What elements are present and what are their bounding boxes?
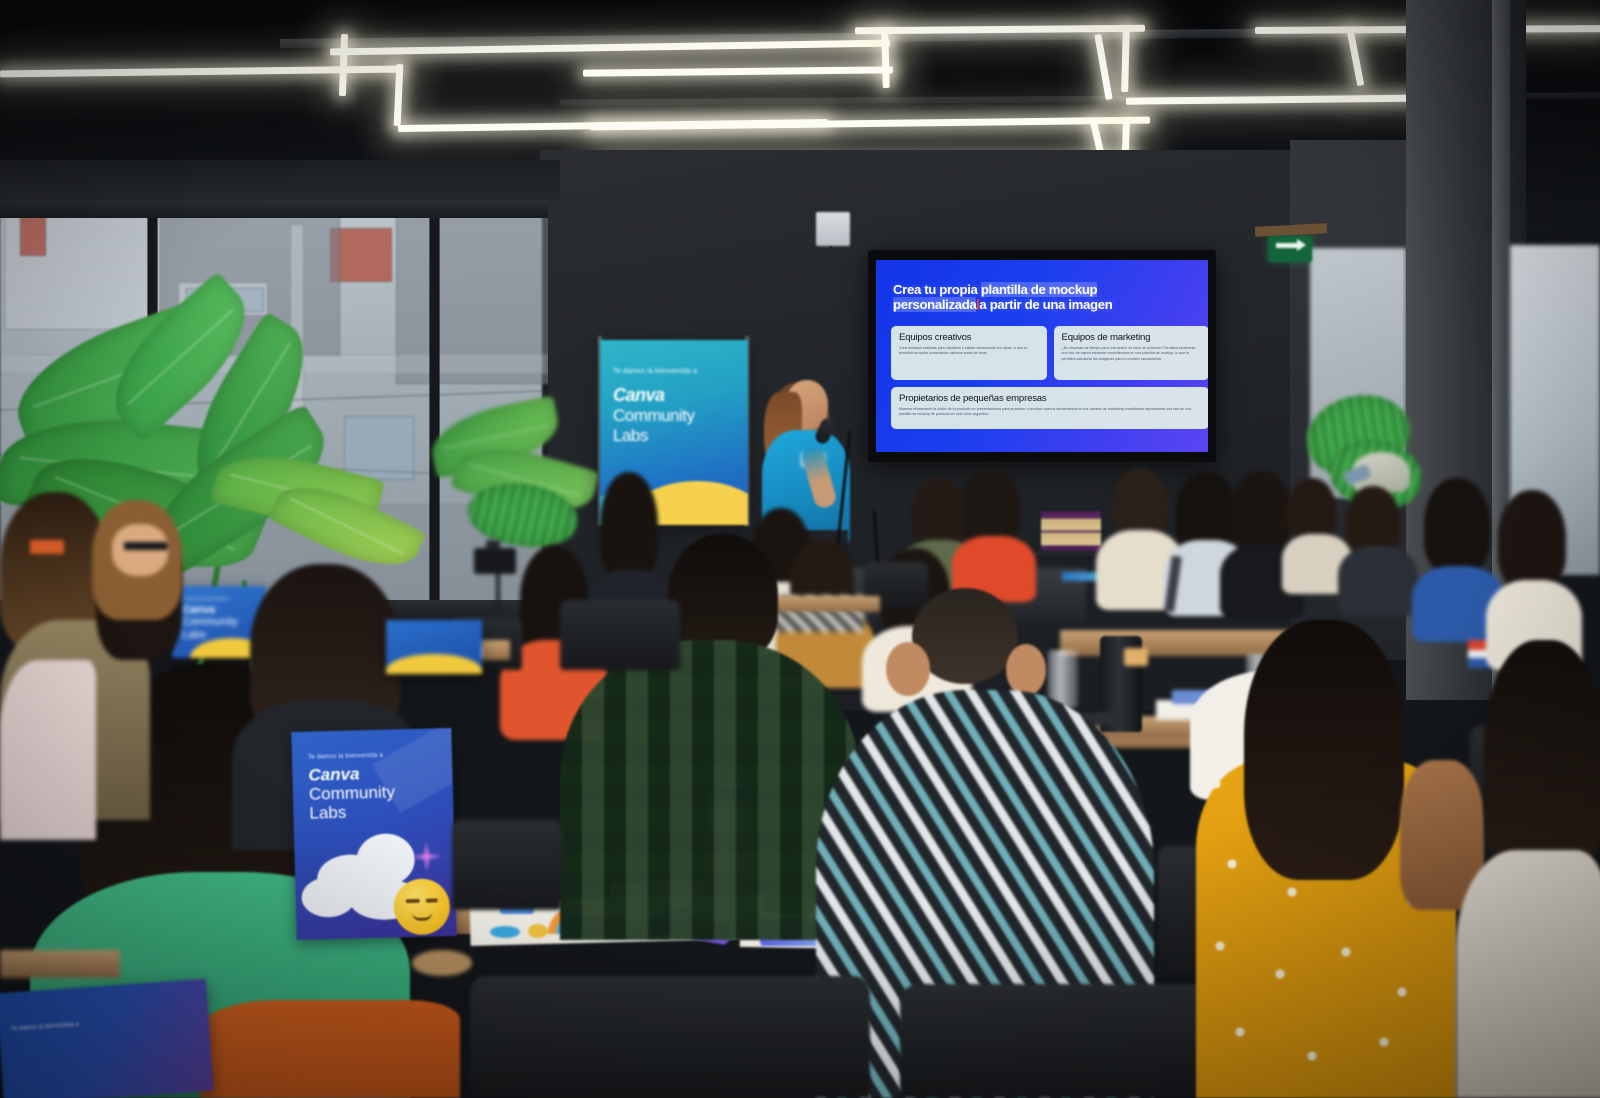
eyeglasses: [124, 542, 168, 550]
exit-arrow-icon: [1276, 243, 1298, 248]
card-welcome-text: Te damos la bienvenida a: [182, 596, 230, 601]
attendee-body: [1338, 546, 1418, 616]
cloud-graphic: [301, 877, 356, 918]
card-line2: Community: [309, 782, 395, 803]
slide-card-heading: Propietarios de pequeñas empresas: [899, 393, 1201, 404]
slide-title-a: Crea tu propia: [893, 282, 981, 297]
card-line3: Labs: [182, 629, 206, 641]
table-tent-card-bottom: Te damos la bienvenida a: [0, 979, 214, 1098]
card-brand-text: Canva Community Labs: [182, 604, 238, 641]
table-mid-small: [760, 596, 880, 612]
ceiling-light-tube: [881, 30, 890, 88]
attendee-body: [1456, 850, 1600, 1098]
camera-top: [486, 540, 500, 550]
exit-sign: [1268, 236, 1312, 262]
speaker-cable: [830, 246, 832, 264]
attendee-hair: [1424, 478, 1490, 574]
attendee-orange-garment: [200, 1000, 460, 1098]
card-line2: Community: [182, 616, 238, 628]
attendee-hair: [1484, 640, 1600, 880]
lanyard: [30, 540, 64, 554]
emoji-graphic: [393, 878, 450, 935]
slide-card-body: Crea mockups realistas para visualizar y…: [899, 346, 1039, 357]
slide-card-body: Muestra eficazmente la visión de tu prod…: [899, 407, 1201, 418]
attendee-hair: [1244, 620, 1404, 880]
card-line3: Labs: [309, 803, 346, 823]
banner-line2: Community: [613, 406, 694, 425]
window-mullion: [430, 196, 439, 626]
attendee-hair: [1232, 470, 1290, 554]
emoji-eye: [406, 899, 420, 903]
camera-body: [474, 548, 516, 574]
table-front-left: [0, 950, 120, 978]
slide-title-d: a partir de una imagen: [979, 297, 1112, 312]
sparkle-graphic: [404, 834, 449, 879]
slide-card: Propietarios de pequeñas empresas Muestr…: [891, 387, 1208, 429]
chair-front: [470, 976, 870, 1098]
table-tent-card-front: Te damos la bienvenida a Canva Community…: [291, 728, 456, 940]
ceiling-light-tube: [339, 34, 348, 96]
laptop-screen: [1040, 510, 1102, 552]
window-soffit: [0, 160, 560, 200]
banner-line3: Labs: [613, 426, 648, 445]
banner-brand-text: Canva Community Labs: [613, 385, 743, 446]
banner-brand: Canva: [613, 385, 665, 405]
attendee-head: [112, 524, 168, 576]
building-window: [20, 214, 46, 256]
table-tent-card: [386, 620, 482, 674]
slide-card: Equipos creativos Crea mockups realistas…: [891, 326, 1047, 380]
tripod-leg: [496, 574, 500, 614]
slide-title: Crea tu propia plantilla de mockupperson…: [893, 282, 1193, 312]
chair: [452, 820, 562, 910]
photo-scene: Crea tu propia plantilla de mockupperson…: [0, 0, 1600, 1098]
plate: [412, 950, 472, 976]
sticker-dot: [528, 924, 548, 938]
card-brand: Canva: [308, 764, 360, 784]
ceiling-light-tube: [590, 117, 1150, 131]
chair: [560, 600, 680, 670]
slide-title-c: personalizada: [893, 297, 976, 312]
slide-title-b: plantilla de mockup: [981, 282, 1097, 297]
attendee-hair: [1498, 490, 1566, 590]
card-welcome-text: Te damos la bienvenida a: [11, 1022, 79, 1033]
ceiling-light-tube: [1121, 26, 1130, 92]
emoji-mouth: [412, 913, 432, 922]
banner-welcome-text: Te damos la bienvenida a: [613, 366, 737, 375]
attendee-hair: [962, 468, 1020, 546]
attendee-body: [0, 660, 96, 840]
ceiling-light-tube: [1094, 34, 1112, 100]
card-welcome-text: Te damos la bienvenida a: [308, 752, 383, 761]
wall-speaker: [816, 212, 850, 246]
presentation-display: Crea tu propia plantilla de mockupperson…: [868, 250, 1216, 462]
attendee-hair: [600, 472, 658, 582]
sticker-dot: [490, 926, 520, 938]
slide-card-heading: Equipos creativos: [899, 332, 1039, 343]
card-brand-text: Canva Community Labs: [308, 763, 395, 822]
ceiling-light-tube: [394, 64, 404, 126]
slide-card-body: ¿No dispones de tiempo para una sesión d…: [1062, 346, 1202, 362]
slide: Crea tu propia plantilla de mockupperson…: [876, 260, 1208, 452]
slide-card: Equipos de marketing ¿No dispones de tie…: [1054, 326, 1209, 380]
emoji-eye: [426, 898, 438, 902]
card-shape-yellow: [386, 654, 482, 674]
snack: [1124, 648, 1148, 666]
ceiling-light-tube: [583, 66, 893, 76]
card-brand: Canva: [182, 604, 215, 616]
slide-card-list: Equipos creativos Crea mockups realistas…: [891, 326, 1208, 429]
attendee-ear: [886, 642, 930, 696]
attendee-plaid-shirt: [560, 640, 860, 940]
ceiling-light-tube: [1347, 30, 1365, 86]
attendee-ear: [1006, 644, 1046, 696]
slide-card-heading: Equipos de marketing: [1062, 332, 1202, 343]
